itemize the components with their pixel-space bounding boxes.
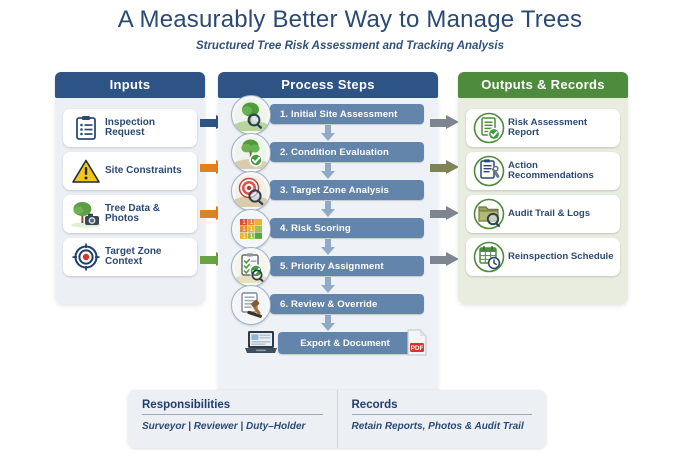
output-label: Audit Trail & Logs [508,209,594,219]
arrow-shaft [200,256,217,264]
records-heading: Records [352,399,533,415]
folder-magnifier-icon [470,198,508,230]
tree-magnifier-icon [231,95,271,135]
output-card-action-recommendations[interactable]: Action Recommendations [466,152,620,190]
process-step-5[interactable]: 5. Priority Assignment [270,256,424,276]
document-check-icon [470,112,508,144]
target-magnifier-icon [231,171,271,211]
responsibilities-section: Responsibilities Surveyor | Reviewer | D… [128,390,337,448]
input-label: Site Constraints [105,166,186,177]
arrow-shaft [200,210,217,218]
pdf-file-icon: PDF [406,329,428,361]
output-label: Risk Assessment Report [508,118,620,138]
process-step-6[interactable]: 6. Review & Override [270,294,424,314]
output-label: Action Recommendations [508,161,620,181]
clipboard-wrench-icon [470,155,508,187]
arrow-shaft [430,210,447,218]
arrow-shaft [430,256,447,264]
arrow-shaft [200,164,217,172]
step-connector-3 [321,201,335,217]
outputs-header: Outputs & Records [458,72,628,98]
flow-arrow-outputs-4 [430,252,460,266]
input-label: Inspection Request [105,118,197,139]
clipboard-list-icon [67,112,105,144]
arrow-shaft [430,119,447,127]
outputs-column: Outputs & Records Risk Assessment R [458,72,628,304]
step-connector-1 [321,125,335,141]
input-card-site-constraints[interactable]: Site Constraints [63,152,197,190]
laptop-icon [244,329,278,361]
inputs-body: Inspection Request Site Constraints [55,98,205,304]
process-step-label: 4. Risk Scoring [270,223,351,234]
page-title: A Measurably Better Way to Manage Trees [0,6,700,34]
input-card-tree-data-photos[interactable]: Tree Data & Photos [63,195,197,233]
process-step-label: 2. Condition Evaluation [270,147,389,158]
input-label: Target Zone Context [105,247,197,268]
responsibilities-text: Surveyor | Reviewer | Duty–Holder [142,415,323,432]
output-card-risk-assessment-report[interactable]: Risk Assessment Report [466,109,620,147]
export-label: Export & Document [300,338,390,349]
process-step-3[interactable]: 3. Target Zone Analysis [270,180,424,200]
process-step-label: 6. Review & Override [270,299,377,310]
arrow-shaft [200,119,217,127]
output-card-audit-trail-logs[interactable]: Audit Trail & Logs [466,195,620,233]
outputs-body: Risk Assessment Report [458,98,628,304]
page-subtitle: Structured Tree Risk Assessment and Trac… [0,40,700,52]
footer-panel: Responsibilities Surveyor | Reviewer | D… [128,390,546,448]
input-card-target-zone-context[interactable]: Target Zone Context [63,238,197,276]
process-step-label: 1. Initial Site Assessment [270,109,397,120]
calendar-clock-icon [470,241,508,273]
flow-arrow-outputs-3 [430,206,460,220]
input-card-inspection-request[interactable]: Inspection Request [63,109,197,147]
arrow-shaft [430,164,447,172]
export-document-bar[interactable]: Export & Document PDF [278,332,412,354]
process-step-label: 5. Priority Assignment [270,261,384,272]
process-body: 1. Initial Site Assessment [218,98,438,401]
svg-text:PDF: PDF [411,345,424,352]
document-gavel-icon [231,285,271,325]
inputs-header: Inputs [55,72,205,98]
infographic-canvas: A Measurably Better Way to Manage Trees … [0,0,700,469]
flow-arrow-outputs-2 [430,160,460,174]
warning-triangle-icon [67,155,105,187]
process-column: Process Steps [218,72,438,401]
process-step-label: 3. Target Zone Analysis [270,185,389,196]
step-connector-6 [321,315,335,331]
inputs-column: Inputs Inspection Request [55,72,205,304]
process-step-1[interactable]: 1. Initial Site Assessment [270,104,424,124]
records-section: Records Retain Reports, Photos & Audit T… [337,390,547,448]
flow-arrow-outputs-1 [430,115,460,129]
process-step-2[interactable]: 2. Condition Evaluation [270,142,424,162]
records-text: Retain Reports, Photos & Audit Trail [352,415,533,432]
output-label: Reinspection Schedule [508,252,618,262]
step-connector-5 [321,277,335,293]
output-card-reinspection-schedule[interactable]: Reinspection Schedule [466,238,620,276]
checklist-check-icon [231,247,271,287]
risk-matrix-icon: 1 1 1 1 1 1 [231,209,271,249]
responsibilities-heading: Responsibilities [142,399,323,415]
step-connector-2 [321,163,335,179]
tree-check-icon [231,133,271,173]
tree-camera-icon [67,198,105,230]
process-step-4[interactable]: 1 1 1 1 1 1 4. Risk Scoring [270,218,424,238]
input-label: Tree Data & Photos [105,204,197,225]
step-connector-4 [321,239,335,255]
target-bullseye-icon [67,241,105,273]
process-steps-list: 1. Initial Site Assessment [218,98,438,354]
